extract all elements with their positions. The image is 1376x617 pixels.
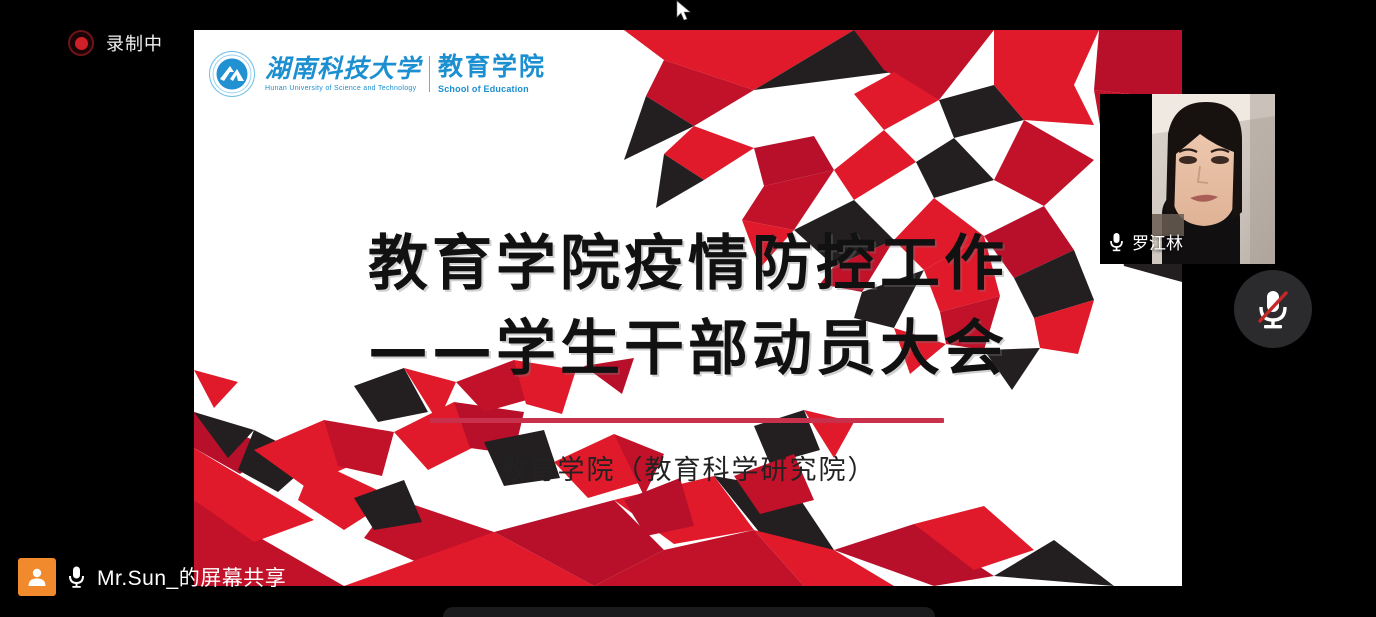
slide-subtitle: 教育学院（教育科学研究院）: [194, 448, 1182, 487]
slide-title: 教育学院疫情防控工作 ——学生干部动员大会: [194, 222, 1182, 392]
mute-toggle-button[interactable]: [1234, 270, 1312, 348]
logo-school-cn: 教育学院: [438, 54, 546, 80]
participant-name-badge: 罗江林: [1108, 229, 1183, 254]
meeting-screen: 录制中: [0, 0, 1376, 617]
microphone-icon: [67, 565, 86, 589]
screen-share-label: Mr.Sun_的屏幕共享: [97, 562, 286, 592]
microphone-muted-icon: [1253, 287, 1293, 331]
mouse-pointer-icon: [676, 0, 692, 22]
university-emblem-icon: [208, 50, 256, 98]
logo-university-cn: 湖南科技大学: [265, 56, 421, 82]
logo-school-en: School of Education: [438, 84, 546, 94]
recording-label: 录制中: [106, 30, 163, 56]
screen-share-banner: Mr.Sun_的屏幕共享: [18, 558, 286, 596]
shared-slide[interactable]: 湖南科技大学 Hunan University of Science and T…: [194, 30, 1182, 586]
logo-divider: [429, 56, 430, 91]
slide-logo: 湖南科技大学 Hunan University of Science and T…: [208, 50, 546, 98]
slide-title-line-1: 教育学院疫情防控工作: [194, 222, 1182, 307]
meeting-toolbar[interactable]: [443, 607, 935, 617]
self-video-tile[interactable]: 罗江林: [1100, 94, 1275, 264]
user-avatar-icon: [18, 558, 56, 596]
microphone-icon: [1108, 232, 1125, 252]
logo-university-en: Hunan University of Science and Technolo…: [265, 85, 421, 92]
recording-indicator: 录制中: [68, 30, 163, 56]
slide-title-line-2: ——学生干部动员大会: [194, 307, 1182, 392]
record-dot-icon: [68, 30, 94, 56]
slide-title-rule: [430, 418, 944, 423]
participant-name: 罗江林: [1132, 229, 1183, 254]
